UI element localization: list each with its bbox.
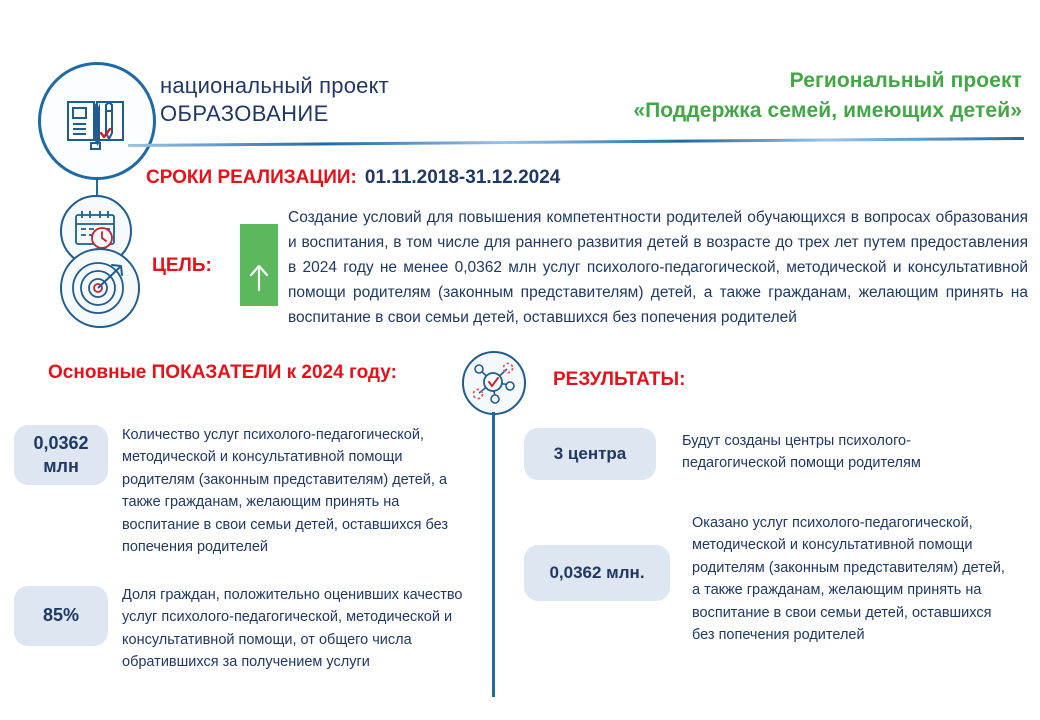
indicators-heading: Основные ПОКАЗАТЕЛИ к 2024 году: <box>48 362 397 384</box>
open-book-pencil-icon <box>61 85 133 162</box>
brand-line-2: ОБРАЗОВАНИЕ <box>160 100 389 128</box>
results-vertical-line <box>492 412 495 697</box>
regional-title-line-1: Региональный проект <box>633 66 1022 96</box>
goal-text: Создание условий для повышения компетент… <box>288 205 1028 331</box>
network-check-icon <box>464 353 524 412</box>
indicator-description-0: Количество услуг психолого-педагогическо… <box>122 424 474 559</box>
national-project-logo <box>38 62 156 180</box>
result-value-1: 0,0362 млн. <box>524 545 670 601</box>
target-icon-circle <box>60 248 140 328</box>
regional-title-line-2: «Поддержка семей, имеющих детей» <box>633 96 1022 126</box>
implementation-period-value: 01.11.2018-31.12.2024 <box>365 167 560 188</box>
infographic-canvas: национальный проект ОБРАЗОВАНИЕ Регионал… <box>0 0 1040 720</box>
network-hub-circle <box>462 351 526 415</box>
results-heading: РЕЗУЛЬТАТЫ: <box>553 369 685 391</box>
goal-label: ЦЕЛЬ: <box>152 255 212 277</box>
brand-line-1: национальный проект <box>160 72 389 100</box>
result-description-1: Оказано услуг психолого-педагогической, … <box>692 512 1012 647</box>
implementation-period: СРОКИ РЕАЛИЗАЦИИ:01.11.2018-31.12.2024 <box>146 167 560 189</box>
indicator-value-0: 0,0362 млн <box>14 425 108 485</box>
goal-arrow-badge <box>240 224 278 306</box>
result-description-0: Будут созданы центры психолого-педагогич… <box>682 430 1012 475</box>
target-arrow-icon <box>62 250 138 324</box>
regional-project-title: Региональный проект «Поддержка семей, им… <box>633 66 1022 126</box>
implementation-period-label: СРОКИ РЕАЛИЗАЦИИ: <box>146 167 357 188</box>
header-divider <box>128 137 1024 147</box>
indicator-value-1: 85% <box>14 586 108 646</box>
result-value-0: 3 центра <box>524 428 656 480</box>
indicator-description-1: Доля граждан, положительно оценивших кач… <box>122 584 474 674</box>
brand-title: национальный проект ОБРАЗОВАНИЕ <box>160 72 389 128</box>
